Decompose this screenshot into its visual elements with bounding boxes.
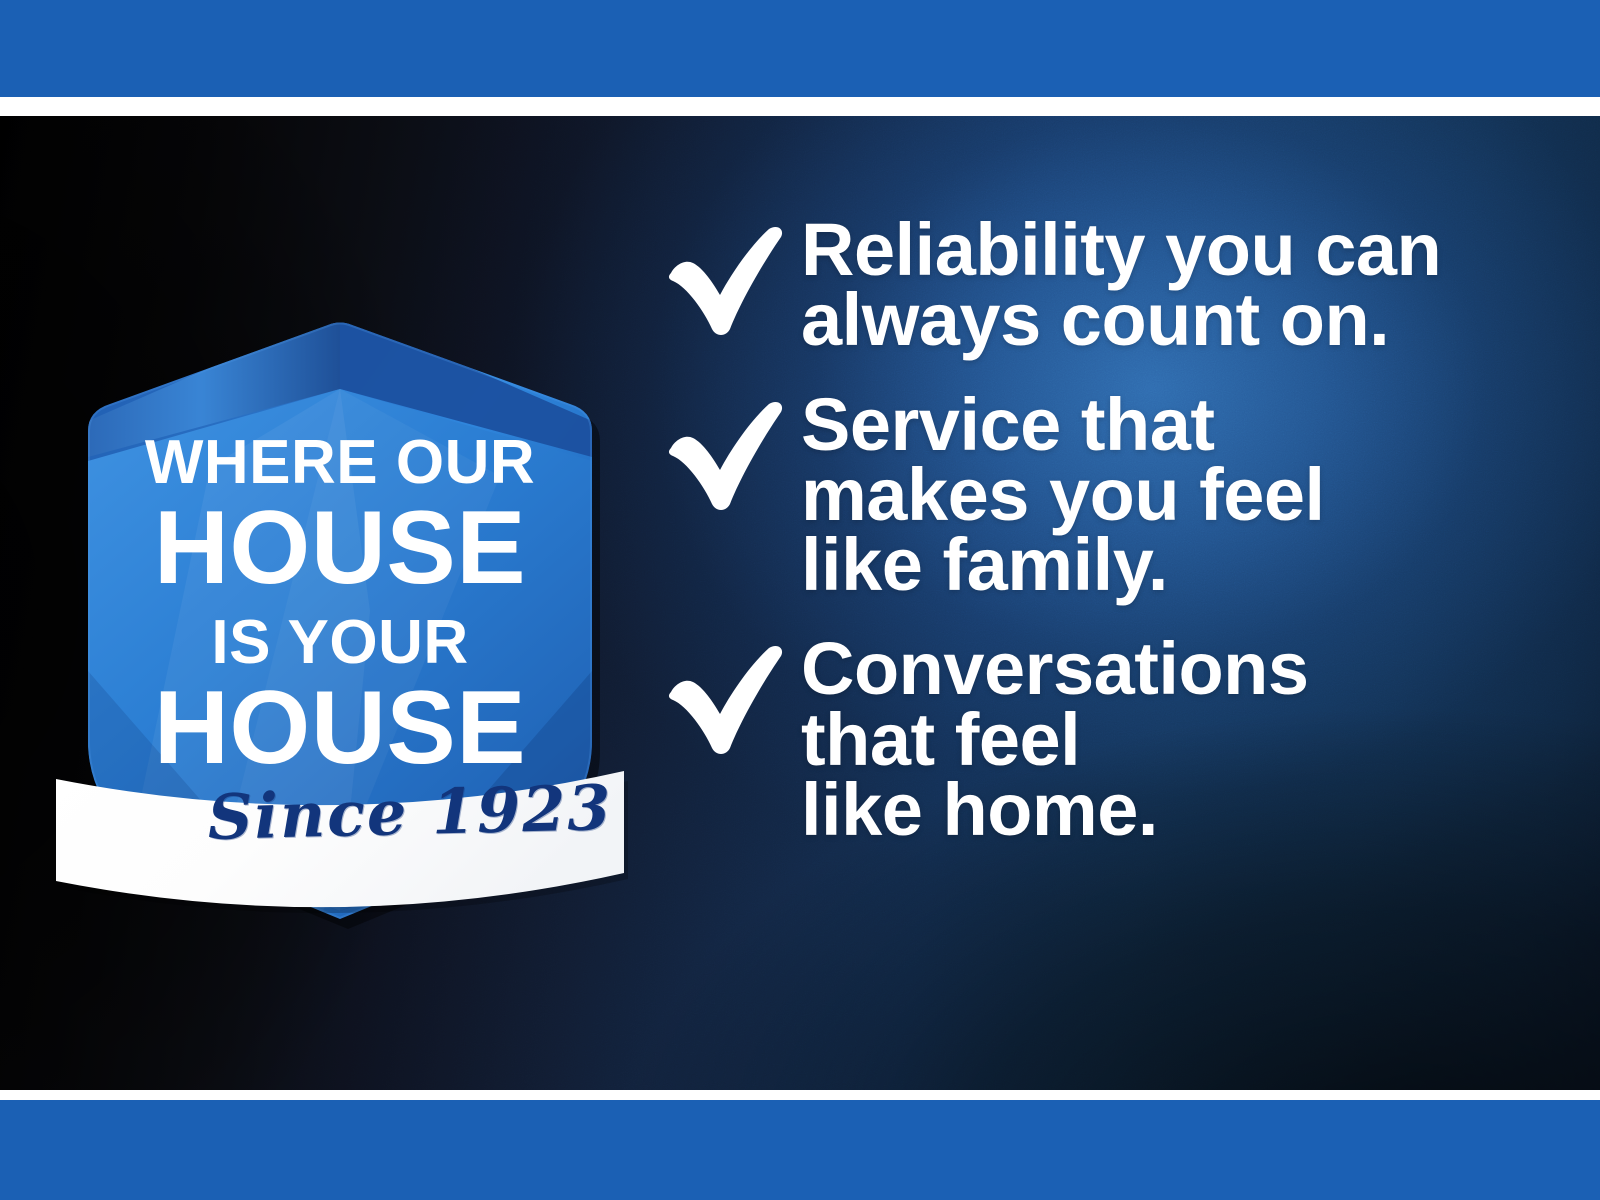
benefit-item: Conversations that feel like home. [665, 630, 1565, 845]
benefit-text: Reliability you can always count on. [801, 211, 1565, 356]
check-icon [665, 386, 801, 512]
benefit-text: Conversations that feel like home. [801, 630, 1565, 845]
main-stage: WHERE OUR HOUSE IS YOUR HOUSE Since 1923 [0, 116, 1600, 1090]
shield-line-4: HOUSE [154, 670, 526, 786]
check-icon [665, 211, 801, 337]
shield-line-2: HOUSE [154, 490, 526, 606]
promo-graphic: WHERE OUR HOUSE IS YOUR HOUSE Since 1923 [0, 0, 1600, 1200]
benefits-list: Reliability you can always count on. Ser… [665, 211, 1565, 845]
bottom-brand-bar [0, 1100, 1600, 1200]
benefit-text: Service that makes you feel like family. [801, 386, 1565, 601]
shield-line-3: IS YOUR [211, 608, 468, 677]
check-icon [665, 630, 801, 756]
top-brand-bar [0, 0, 1600, 97]
shield-line-1: WHERE OUR [145, 428, 535, 497]
shield-emblem: WHERE OUR HOUSE IS YOUR HOUSE Since 1923 [70, 271, 610, 931]
benefit-item: Reliability you can always count on. [665, 211, 1565, 356]
benefit-item: Service that makes you feel like family. [665, 386, 1565, 601]
